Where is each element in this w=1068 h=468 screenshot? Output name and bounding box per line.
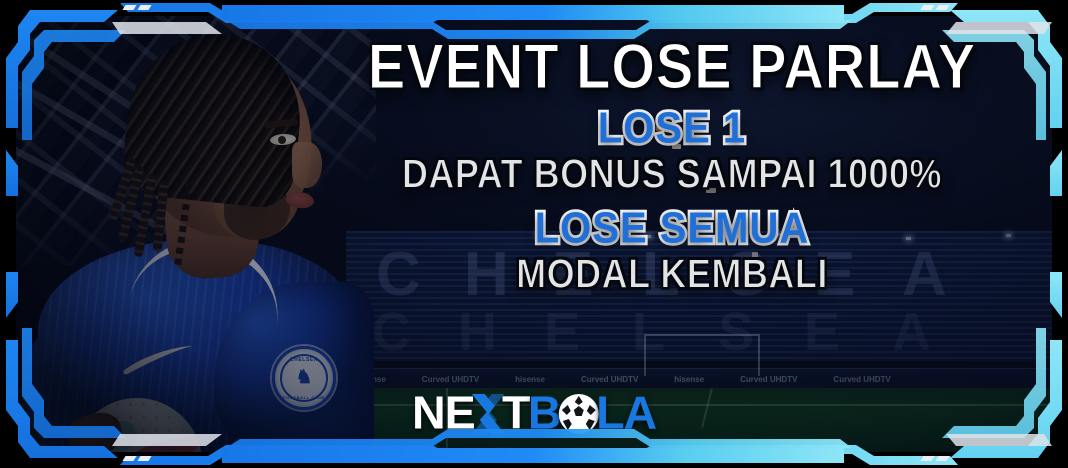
slash-mark: [137, 456, 151, 461]
ad-text: Curved UHDTV: [422, 375, 479, 384]
promotional-banner: C H E L S E A C H E L S E A hisense Curv…: [0, 0, 1068, 468]
promo-line-lose-1: LOSE 1: [322, 105, 1022, 151]
stand-letter: E: [544, 301, 582, 363]
crest-lion-icon: ♞: [293, 364, 315, 392]
brand-logo[interactable]: NE T B LA: [414, 392, 654, 436]
logo-text-b: B: [528, 391, 561, 437]
crest-bottom-text: FOOTBALL CLUB: [275, 395, 333, 400]
corner-slash-marks-top-left: [124, 5, 150, 10]
player-nose: [292, 142, 322, 188]
slash-mark: [920, 5, 934, 10]
stand-letter: C: [372, 301, 413, 363]
crest-top-text: CHELSEA: [275, 357, 333, 363]
slash-mark: [122, 5, 136, 10]
corner-slash-marks-bottom-right: [922, 456, 948, 461]
ad-text: Curved UHDTV: [833, 375, 890, 384]
slash-mark: [935, 5, 949, 10]
nike-swoosh-icon: [120, 346, 196, 376]
stand-letter: E: [804, 301, 842, 363]
promo-line-lose-semua: LOSE SEMUA: [322, 205, 1022, 251]
soccer-ball-icon: [559, 394, 599, 434]
logo-text-t: T: [502, 391, 529, 437]
logo-text-ne: NE: [412, 391, 475, 437]
logo-text-la: LA: [596, 391, 656, 437]
page-title: EVENT LOSE PARLAY: [322, 34, 1022, 98]
pitch-line: [701, 388, 713, 427]
arrow-x-icon: [471, 393, 505, 435]
promo-line-modal-kembali: MODAL KEMBALI: [322, 253, 1022, 295]
corner-slash-marks-bottom-left: [124, 456, 150, 461]
soccer-ball-svg: [559, 394, 599, 434]
slash-mark: [920, 456, 934, 461]
promo-line-bonus: DAPAT BONUS SAMPAI 1000%: [322, 153, 1022, 195]
chelsea-crest: CHELSEA ♞ FOOTBALL CLUB: [272, 346, 336, 410]
ad-text: Curved UHDTV: [581, 375, 638, 384]
ad-text: hisense: [515, 375, 545, 384]
player-pupil: [278, 136, 286, 144]
slash-mark: [122, 456, 136, 461]
goal-frame: [644, 334, 760, 376]
slash-mark: [935, 456, 949, 461]
corner-slash-marks-top-right: [922, 5, 948, 10]
stand-letter: A: [892, 301, 933, 363]
slash-mark: [137, 5, 151, 10]
promo-copy-block: EVENT LOSE PARLAY LOSE 1 DAPAT BONUS SAM…: [322, 34, 1022, 293]
stand-letter: H: [458, 301, 499, 363]
